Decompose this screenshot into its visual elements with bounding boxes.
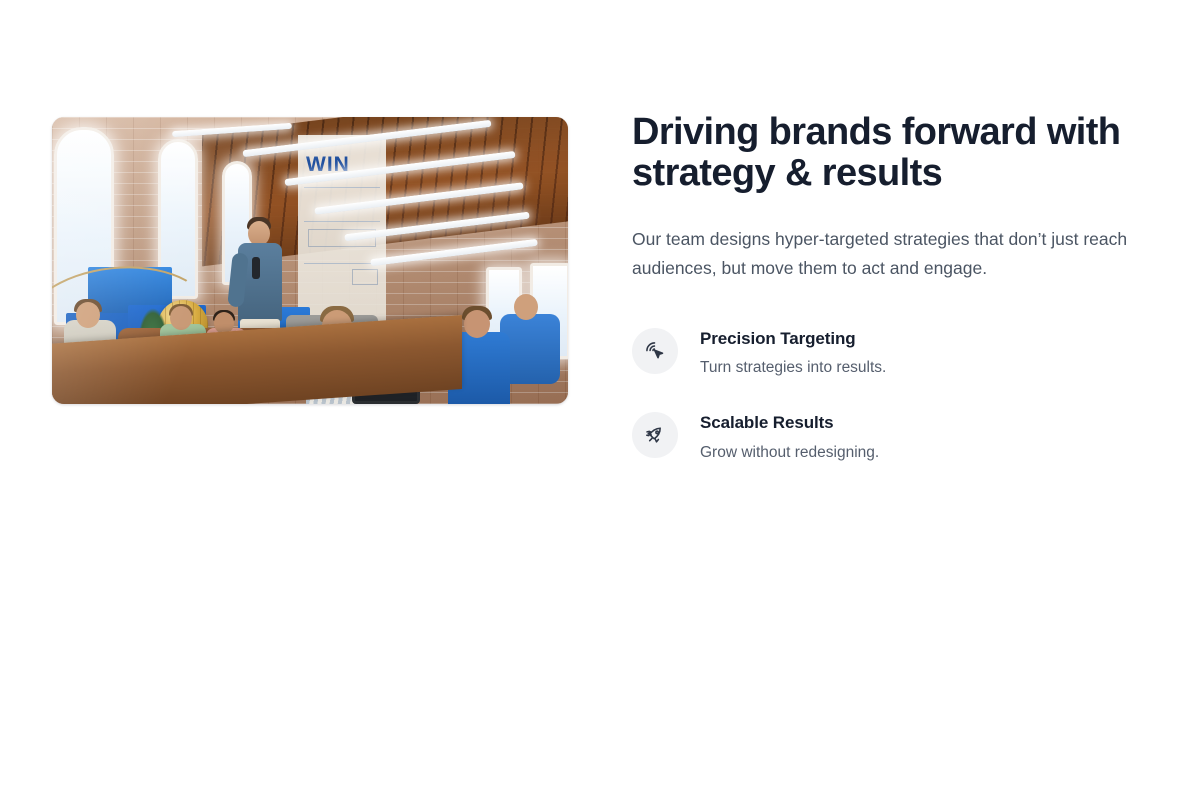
page-title: Driving brands forward with strategy & r… [632,112,1128,193]
section-subheading: Our team designs hyper-targeted strategi… [632,225,1128,282]
cursor-click-icon [632,328,678,374]
feature-text-block: Scalable Results Grow without redesignin… [700,411,879,464]
text-column: Driving brands forward with strategy & r… [568,0,1128,464]
feature-title: Precision Targeting [700,328,886,349]
landing-feature-section: WIN [0,0,1200,800]
feature-item-precision-targeting: Precision Targeting Turn strategies into… [632,327,1128,380]
feature-description: Grow without redesigning. [700,442,879,464]
feature-list: Precision Targeting Turn strategies into… [632,327,1128,464]
feature-title: Scalable Results [700,412,879,433]
office-photo-card: WIN [52,117,568,404]
feature-text-block: Precision Targeting Turn strategies into… [700,327,886,380]
feature-description: Turn strategies into results. [700,357,886,379]
office-all-hands-photo: WIN [52,117,568,404]
feature-item-scalable-results: Scalable Results Grow without redesignin… [632,411,1128,464]
media-column: WIN [0,0,568,404]
two-column-section: WIN [0,0,1200,464]
rocket-growth-icon [632,412,678,458]
